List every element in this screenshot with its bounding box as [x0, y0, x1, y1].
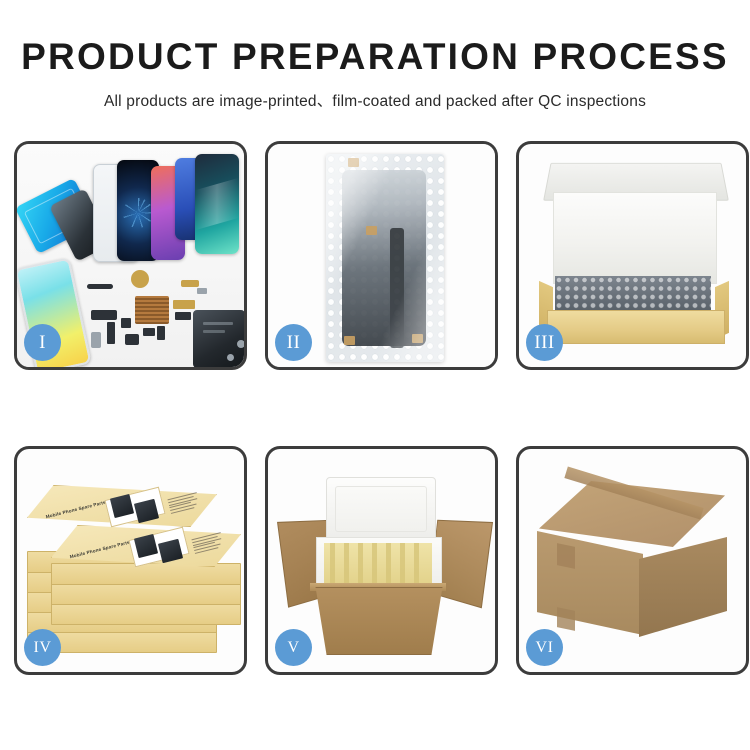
step-badge-4: IV	[24, 629, 61, 666]
process-step-panel-6: VI	[516, 446, 749, 675]
process-step-panel-5: V	[265, 446, 498, 675]
bubble-wrap-bag-icon	[326, 154, 444, 362]
step-badge-3: III	[526, 324, 563, 361]
foam-box-lid-icon	[326, 477, 436, 541]
product-preparation-page: PRODUCT PREPARATION PROCESS All products…	[0, 0, 750, 750]
process-step-panel-3: III	[516, 141, 749, 370]
carton-side-icon	[639, 537, 727, 637]
page-title: PRODUCT PREPARATION PROCESS	[0, 38, 750, 77]
wrapped-part-icon	[342, 170, 426, 346]
step-badge-2: II	[275, 324, 312, 361]
process-step-panel-1: I	[14, 141, 247, 370]
yellow-boxes-icon	[324, 543, 432, 583]
process-step-panel-4: Mobile Phone Spare Parts Mobile Phone Sp…	[14, 446, 247, 675]
spare-parts-cluster	[77, 270, 247, 370]
page-subtitle: All products are image-printed、film-coat…	[0, 89, 750, 111]
step-badge-1: I	[24, 324, 61, 361]
bubble-wrapped-items-icon	[555, 276, 711, 314]
carton-body-icon	[310, 587, 448, 655]
box-front-icon	[547, 310, 725, 344]
phone-teal-icon	[195, 154, 239, 254]
step-badge-6: VI	[526, 629, 563, 666]
page-header: PRODUCT PREPARATION PROCESS All products…	[0, 0, 750, 111]
step-badge-5: V	[275, 629, 312, 666]
foam-sheet-icon	[553, 192, 717, 284]
carton-front-icon	[537, 531, 643, 635]
process-steps-grid: I II	[14, 141, 736, 675]
process-step-panel-2: II	[265, 141, 498, 370]
